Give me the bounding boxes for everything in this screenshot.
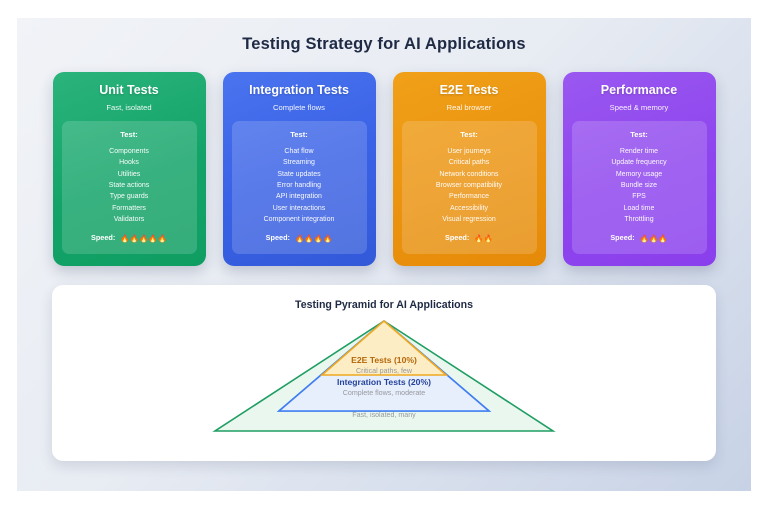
list-item: Accessibility (407, 203, 532, 214)
panel-heading: Test: (577, 130, 702, 139)
list-item: Bundle size (577, 180, 702, 191)
list-item: Error handling (237, 180, 362, 191)
strategy-card-row: Unit Tests Fast, isolated Test: Componen… (17, 72, 751, 266)
pyramid-title: Testing Pyramid for AI Applications (52, 299, 716, 311)
flame-rating-group: 🔥🔥🔥 (640, 228, 668, 246)
flame-icon: 🔥 (658, 234, 667, 243)
test-item-list: Render time Update frequency Memory usag… (577, 146, 702, 225)
list-item: User interactions (237, 203, 362, 214)
flame-icon: 🔥 (120, 234, 129, 243)
list-item: API integration (237, 191, 362, 202)
list-item: Streaming (237, 157, 362, 168)
list-item: Update frequency (577, 157, 702, 168)
speed-rating: Speed: 🔥🔥🔥 (577, 228, 702, 246)
card-unit-tests[interactable]: Unit Tests Fast, isolated Test: Componen… (53, 72, 206, 266)
speed-rating: Speed: 🔥🔥🔥🔥 (237, 228, 362, 246)
flame-icon: 🔥 (640, 234, 649, 243)
card-title: Performance (572, 83, 707, 97)
test-item-list: Chat flow Streaming State updates Error … (237, 146, 362, 225)
flame-icon: 🔥 (323, 234, 332, 243)
list-item: Visual regression (407, 214, 532, 225)
speed-label: Speed: (610, 233, 634, 242)
list-item: Network conditions (407, 169, 532, 180)
list-item: Components (67, 146, 192, 157)
card-subtitle: Speed & memory (572, 103, 707, 112)
list-item: Utilities (67, 169, 192, 180)
card-title: Unit Tests (62, 83, 197, 97)
pyramid-diagram: E2E Tests (10%) Critical paths, few Inte… (52, 313, 716, 443)
flame-icon: 🔥 (649, 234, 658, 243)
card-e2e-tests[interactable]: E2E Tests Real browser Test: User journe… (393, 72, 546, 266)
panel-heading: Test: (67, 130, 192, 139)
card-title: Integration Tests (232, 83, 367, 97)
card-detail-panel: Test: Render time Update frequency Memor… (572, 121, 707, 254)
list-item: Load time (577, 203, 702, 214)
list-item: FPS (577, 191, 702, 202)
card-subtitle: Fast, isolated (62, 103, 197, 112)
speed-rating: Speed: 🔥🔥 (407, 228, 532, 246)
speed-label: Speed: (266, 233, 290, 242)
flame-rating-group: 🔥🔥🔥🔥 (295, 228, 332, 246)
card-integration-tests[interactable]: Integration Tests Complete flows Test: C… (223, 72, 376, 266)
list-item: Formatters (67, 203, 192, 214)
list-item: Browser compatibility (407, 180, 532, 191)
flame-rating-group: 🔥🔥🔥🔥🔥 (120, 228, 167, 246)
flame-icon: 🔥 (148, 234, 157, 243)
app-background: Testing Strategy for AI Applications Uni… (17, 18, 751, 491)
pyramid-tier-e2e-overlay (322, 321, 446, 375)
flame-icon: 🔥 (314, 234, 323, 243)
list-item: Throttling (577, 214, 702, 225)
list-item: Component integration (237, 214, 362, 225)
card-detail-panel: Test: User journeys Critical paths Netwo… (402, 121, 537, 254)
testing-pyramid-panel: Testing Pyramid for AI Applications E2E … (52, 285, 716, 461)
pyramid-svg-overlay (52, 313, 716, 443)
speed-rating: Speed: 🔥🔥🔥🔥🔥 (67, 228, 192, 246)
list-item: Critical paths (407, 157, 532, 168)
page-title: Testing Strategy for AI Applications (17, 35, 751, 54)
flame-icon: 🔥 (295, 234, 304, 243)
card-title: E2E Tests (402, 83, 537, 97)
list-item: Memory usage (577, 169, 702, 180)
card-detail-panel: Test: Chat flow Streaming State updates … (232, 121, 367, 254)
list-item: Performance (407, 191, 532, 202)
panel-heading: Test: (407, 130, 532, 139)
flame-icon: 🔥 (130, 234, 139, 243)
flame-icon: 🔥 (484, 234, 493, 243)
flame-icon: 🔥 (474, 234, 483, 243)
flame-icon: 🔥 (139, 234, 148, 243)
list-item: Render time (577, 146, 702, 157)
list-item: User journeys (407, 146, 532, 157)
test-item-list: Components Hooks Utilities State actions… (67, 146, 192, 225)
flame-icon: 🔥 (158, 234, 167, 243)
flame-rating-group: 🔥🔥 (474, 228, 493, 246)
speed-label: Speed: (91, 233, 115, 242)
card-subtitle: Real browser (402, 103, 537, 112)
list-item: State updates (237, 169, 362, 180)
list-item: State actions (67, 180, 192, 191)
list-item: Chat flow (237, 146, 362, 157)
list-item: Hooks (67, 157, 192, 168)
list-item: Type guards (67, 191, 192, 202)
speed-label: Speed: (445, 233, 469, 242)
card-performance[interactable]: Performance Speed & memory Test: Render … (563, 72, 716, 266)
card-subtitle: Complete flows (232, 103, 367, 112)
panel-heading: Test: (237, 130, 362, 139)
flame-icon: 🔥 (304, 234, 313, 243)
test-item-list: User journeys Critical paths Network con… (407, 146, 532, 225)
list-item: Validators (67, 214, 192, 225)
card-detail-panel: Test: Components Hooks Utilities State a… (62, 121, 197, 254)
